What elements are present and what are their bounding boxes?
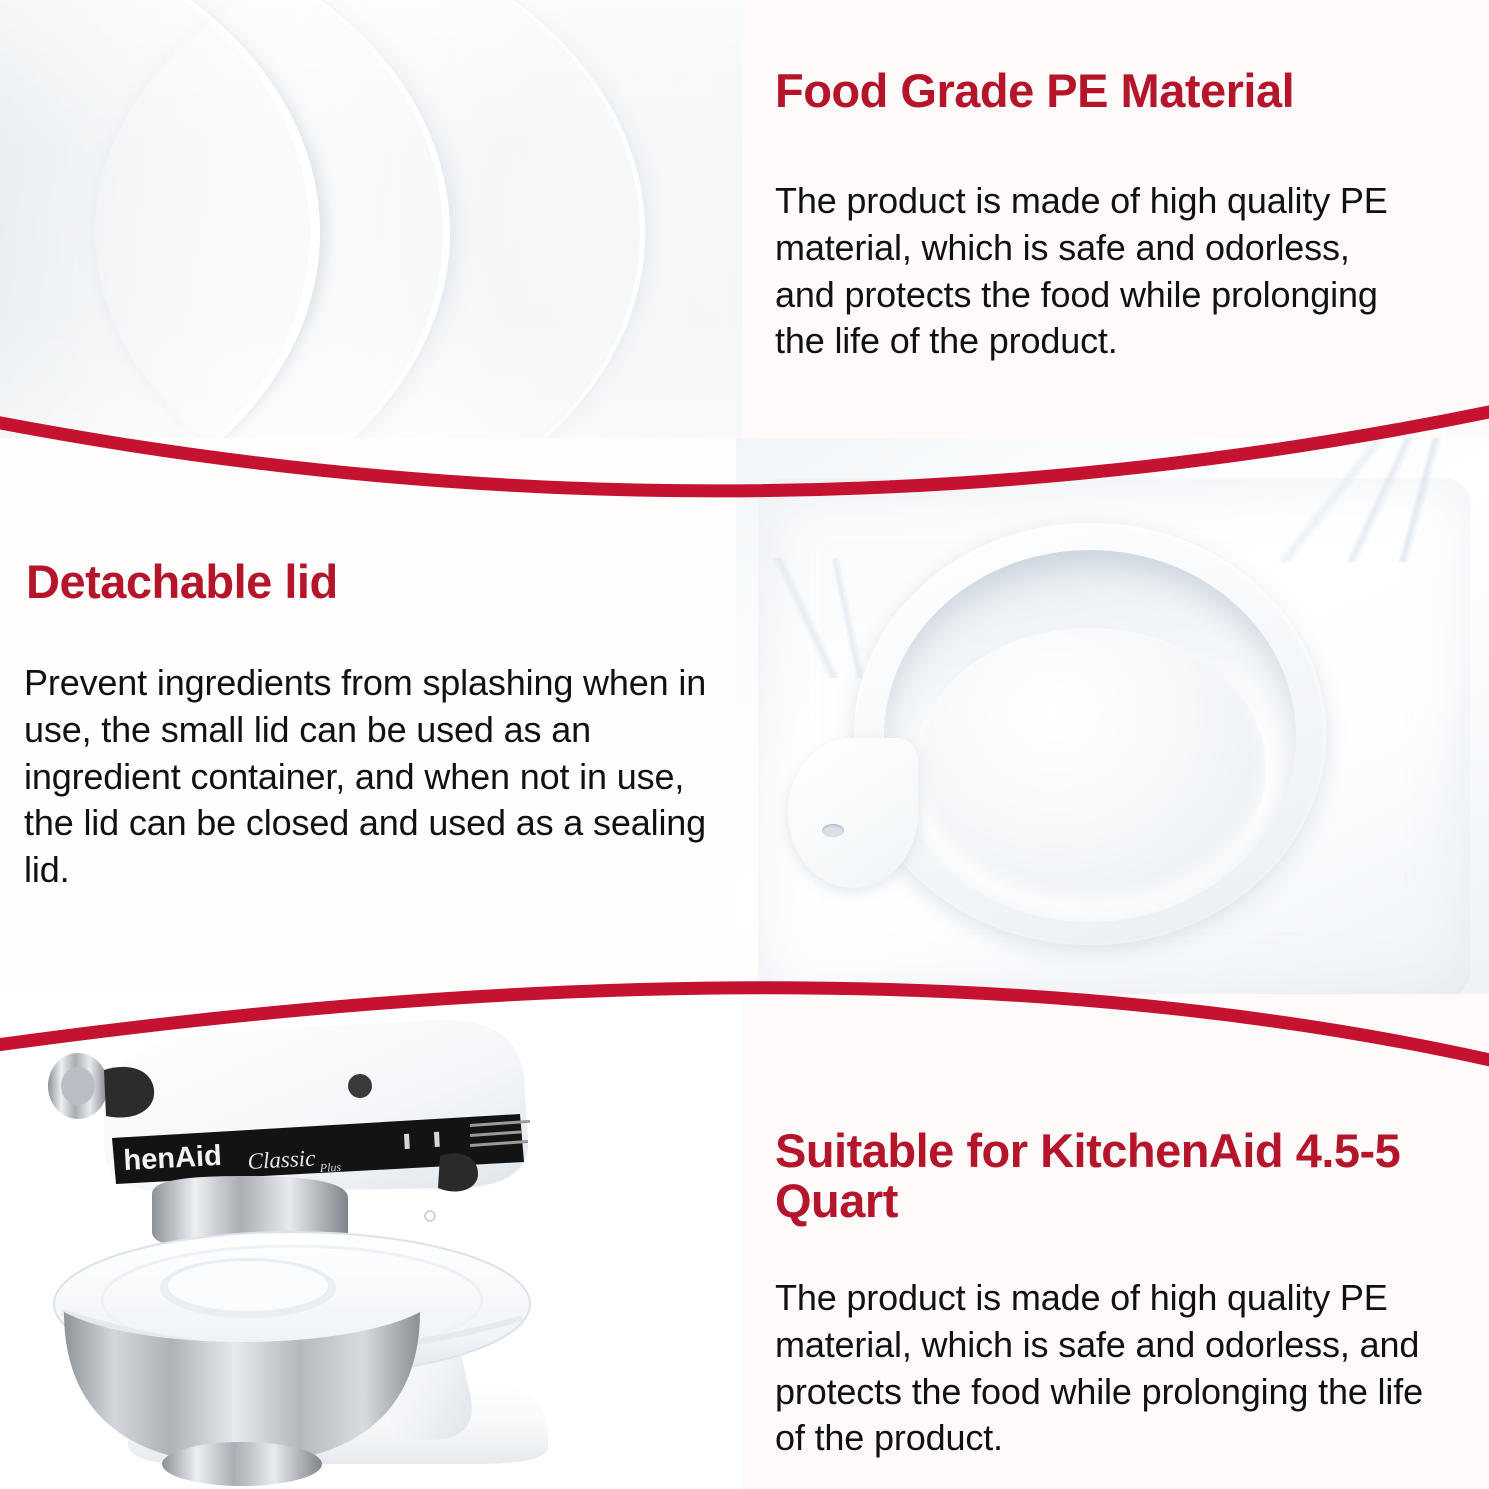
heading-detachable-lid: Detachable lid	[26, 557, 676, 607]
mixer-model-suffix: Plus	[318, 1160, 341, 1175]
speed-tick-1	[404, 1134, 410, 1149]
cover-macro-image	[0, 0, 742, 438]
speed-tick-2	[434, 1132, 440, 1147]
lid-well-floor	[914, 628, 1266, 908]
mixer-hinge-pin	[425, 1211, 435, 1221]
stand-mixer-illustration: henAid Classic Plus	[0, 994, 742, 1489]
stand-mixer-image: henAid Classic Plus	[0, 994, 742, 1489]
mixer-model-label: Classic	[247, 1145, 316, 1174]
heading-suitable-for-kitchenaid: Suitable for KitchenAid 4.5-5 Quart	[775, 1126, 1455, 1226]
mixer-brand-label: henAid	[123, 1140, 223, 1177]
lid-side-tab	[788, 738, 918, 888]
product-feature-infographic: Food Grade PE Material The product is ma…	[0, 0, 1489, 1489]
bowl-foot	[162, 1442, 322, 1486]
lid-tab-hole	[822, 824, 844, 837]
cover-sheen	[0, 0, 742, 438]
body-detachable-lid: Prevent ingredients from splashing when …	[24, 660, 709, 894]
attachment-hub-inner	[61, 1067, 95, 1105]
lid-crinkle-top-right	[1279, 438, 1489, 562]
body-suitable-for-kitchenaid: The product is made of high quality PE m…	[775, 1275, 1425, 1462]
pe-cover-opening-inner	[168, 1261, 328, 1311]
mixer-head-vent	[348, 1074, 372, 1098]
heading-food-grade-pe-material: Food Grade PE Material	[775, 66, 1475, 116]
body-food-grade-pe-material: The product is made of high quality PE m…	[775, 178, 1400, 365]
detachable-lid-image	[736, 438, 1489, 994]
